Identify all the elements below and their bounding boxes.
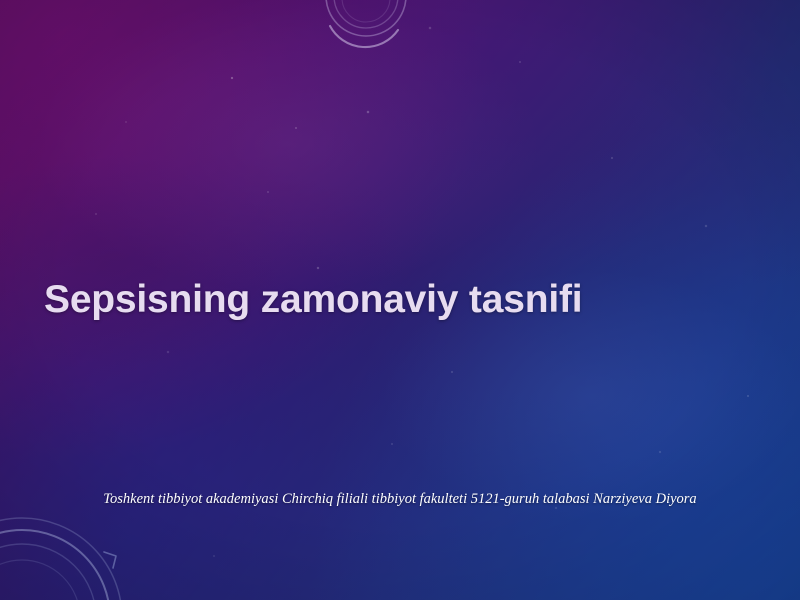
slide-subtitle: Toshkent tibbiyot akademiyasi Chirchiq f… [60,490,740,509]
slide-title: Sepsisning zamonaviy tasnifi [44,278,744,322]
presentation-slide: Sepsisning zamonaviy tasnifi Toshkent ti… [0,0,800,600]
